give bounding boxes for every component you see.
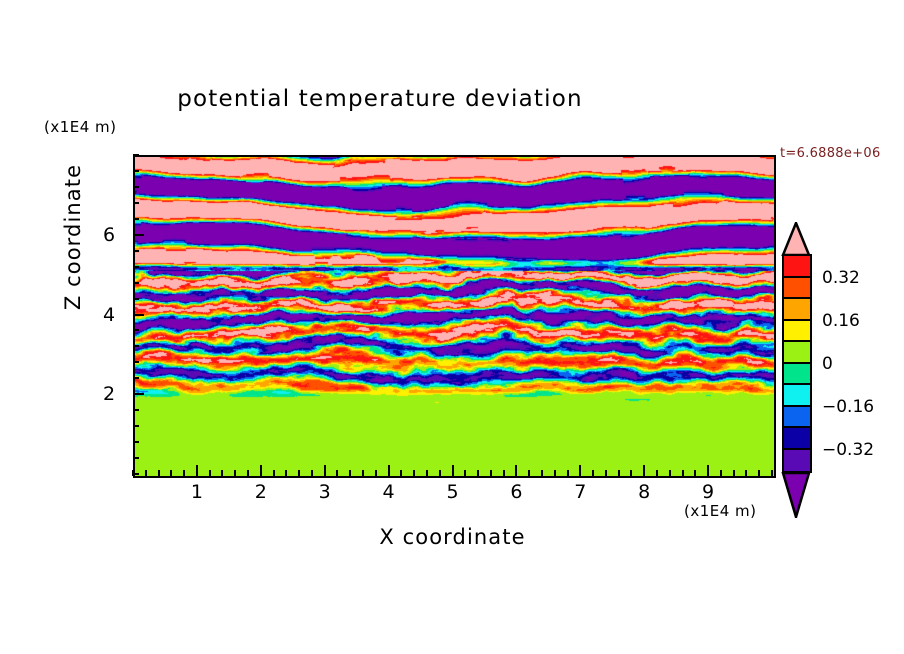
x-axis-minor-tick (311, 470, 313, 476)
y-axis-major-tick (133, 393, 144, 395)
x-axis-minor-tick (298, 470, 300, 476)
y-axis-minor-tick (133, 377, 139, 379)
x-axis-minor-tick (605, 470, 607, 476)
x-axis-minor-tick (592, 470, 594, 476)
x-axis-minor-tick (285, 470, 287, 476)
colorbar-tick-label: −0.16 (822, 397, 874, 417)
y-axis-minor-tick (133, 441, 139, 443)
x-axis-unit-label: (x1E4 m) (684, 502, 757, 520)
x-axis-major-tick (707, 465, 709, 476)
colorbar-band (784, 342, 810, 364)
colorbar-under-arrow-icon (781, 472, 811, 518)
x-axis-minor-tick (554, 470, 556, 476)
x-axis-minor-tick (490, 470, 492, 476)
y-axis-minor-tick (133, 266, 139, 268)
y-axis-tick-label: 4 (103, 304, 115, 326)
y-axis-minor-tick (133, 186, 139, 188)
colorbar-band (784, 321, 810, 343)
x-axis-minor-tick (733, 470, 735, 476)
x-axis-minor-tick (273, 470, 275, 476)
x-axis-major-tick (515, 465, 517, 476)
y-axis-minor-tick (133, 345, 139, 347)
x-axis-minor-tick (745, 470, 747, 476)
x-axis-minor-tick (656, 470, 658, 476)
x-axis-tick-label: 2 (255, 481, 267, 503)
x-axis-major-tick (388, 465, 390, 476)
x-axis-minor-tick (158, 470, 160, 476)
x-axis-minor-tick (439, 470, 441, 476)
x-axis-minor-tick (221, 470, 223, 476)
x-axis-minor-tick (771, 470, 773, 476)
x-axis-minor-tick (170, 470, 172, 476)
colorbar-band (784, 385, 810, 407)
colorbar-band (784, 256, 810, 278)
page-title: potential temperature deviation (0, 86, 760, 112)
colorbar-over-arrow-icon (781, 222, 811, 256)
x-axis-minor-tick (413, 470, 415, 476)
colorbar-tick-label: 0.32 (822, 268, 860, 288)
x-axis-minor-tick (426, 470, 428, 476)
x-axis-minor-tick (336, 470, 338, 476)
x-axis-tick-label: 8 (638, 481, 650, 503)
contour-field (135, 157, 774, 476)
x-axis-minor-tick (477, 470, 479, 476)
y-axis-minor-tick (133, 409, 139, 411)
colorbar-band (784, 450, 810, 472)
y-axis-minor-tick (133, 218, 139, 220)
colorbar-band (784, 428, 810, 450)
x-axis-minor-tick (720, 470, 722, 476)
colorbar-tick-label: 0 (822, 354, 833, 374)
x-axis-minor-tick (362, 470, 364, 476)
x-axis-major-tick (452, 465, 454, 476)
x-axis-major-tick (196, 465, 198, 476)
y-axis-tick-label: 6 (103, 224, 115, 246)
colorbar-band (784, 407, 810, 429)
y-axis-minor-tick (133, 473, 139, 475)
x-axis-minor-tick (247, 470, 249, 476)
x-axis-minor-tick (400, 470, 402, 476)
y-axis-minor-tick (133, 425, 139, 427)
x-axis-minor-tick (528, 470, 530, 476)
x-axis-minor-tick (464, 470, 466, 476)
x-axis-major-tick (643, 465, 645, 476)
x-axis-minor-tick (183, 470, 185, 476)
y-axis-minor-tick (133, 170, 139, 172)
x-axis-minor-tick (618, 470, 620, 476)
x-axis-tick-label: 4 (383, 481, 395, 503)
x-axis-minor-tick (541, 470, 543, 476)
time-annotation: t=6.6888e+06 (780, 146, 881, 161)
x-axis-minor-tick (349, 470, 351, 476)
y-axis-minor-tick (133, 298, 139, 300)
x-axis-major-tick (579, 465, 581, 476)
x-axis-minor-tick (503, 470, 505, 476)
x-axis-minor-tick (567, 470, 569, 476)
colorbar-band (784, 364, 810, 386)
y-axis-minor-tick (133, 202, 139, 204)
colorbar-band (784, 278, 810, 300)
colorbar-tick-label: −0.32 (822, 440, 874, 460)
y-axis-minor-tick (133, 329, 139, 331)
y-axis-major-tick (133, 234, 144, 236)
y-axis-major-tick (133, 314, 144, 316)
y-axis-title: Z coordinate (61, 147, 85, 327)
x-axis-tick-label: 3 (319, 481, 331, 503)
y-axis-minor-tick (133, 154, 139, 156)
x-axis-minor-tick (145, 470, 147, 476)
x-axis-major-tick (260, 465, 262, 476)
y-axis-minor-tick (133, 361, 139, 363)
y-axis-tick-label: 2 (103, 383, 115, 405)
x-axis-minor-tick (630, 470, 632, 476)
plot-area (133, 155, 776, 478)
x-axis-minor-tick (209, 470, 211, 476)
x-axis-major-tick (324, 465, 326, 476)
x-axis-tick-label: 5 (446, 481, 458, 503)
x-axis-minor-tick (375, 470, 377, 476)
x-axis-title: X coordinate (133, 525, 772, 549)
y-axis-minor-tick (133, 282, 139, 284)
colorbar-band (784, 299, 810, 321)
x-axis-tick-label: 9 (702, 481, 714, 503)
colorbar-tick-label: 0.16 (822, 311, 860, 331)
z-axis-unit-label: (x1E4 m) (44, 118, 117, 136)
y-axis-minor-tick (133, 250, 139, 252)
x-axis-tick-label: 7 (574, 481, 586, 503)
y-axis-minor-tick (133, 457, 139, 459)
x-axis-minor-tick (694, 470, 696, 476)
x-axis-tick-label: 6 (510, 481, 522, 503)
x-axis-minor-tick (234, 470, 236, 476)
colorbar-bands (782, 254, 812, 473)
x-axis-tick-label: 1 (191, 481, 203, 503)
x-axis-minor-tick (669, 470, 671, 476)
x-axis-minor-tick (758, 470, 760, 476)
x-axis-minor-tick (682, 470, 684, 476)
